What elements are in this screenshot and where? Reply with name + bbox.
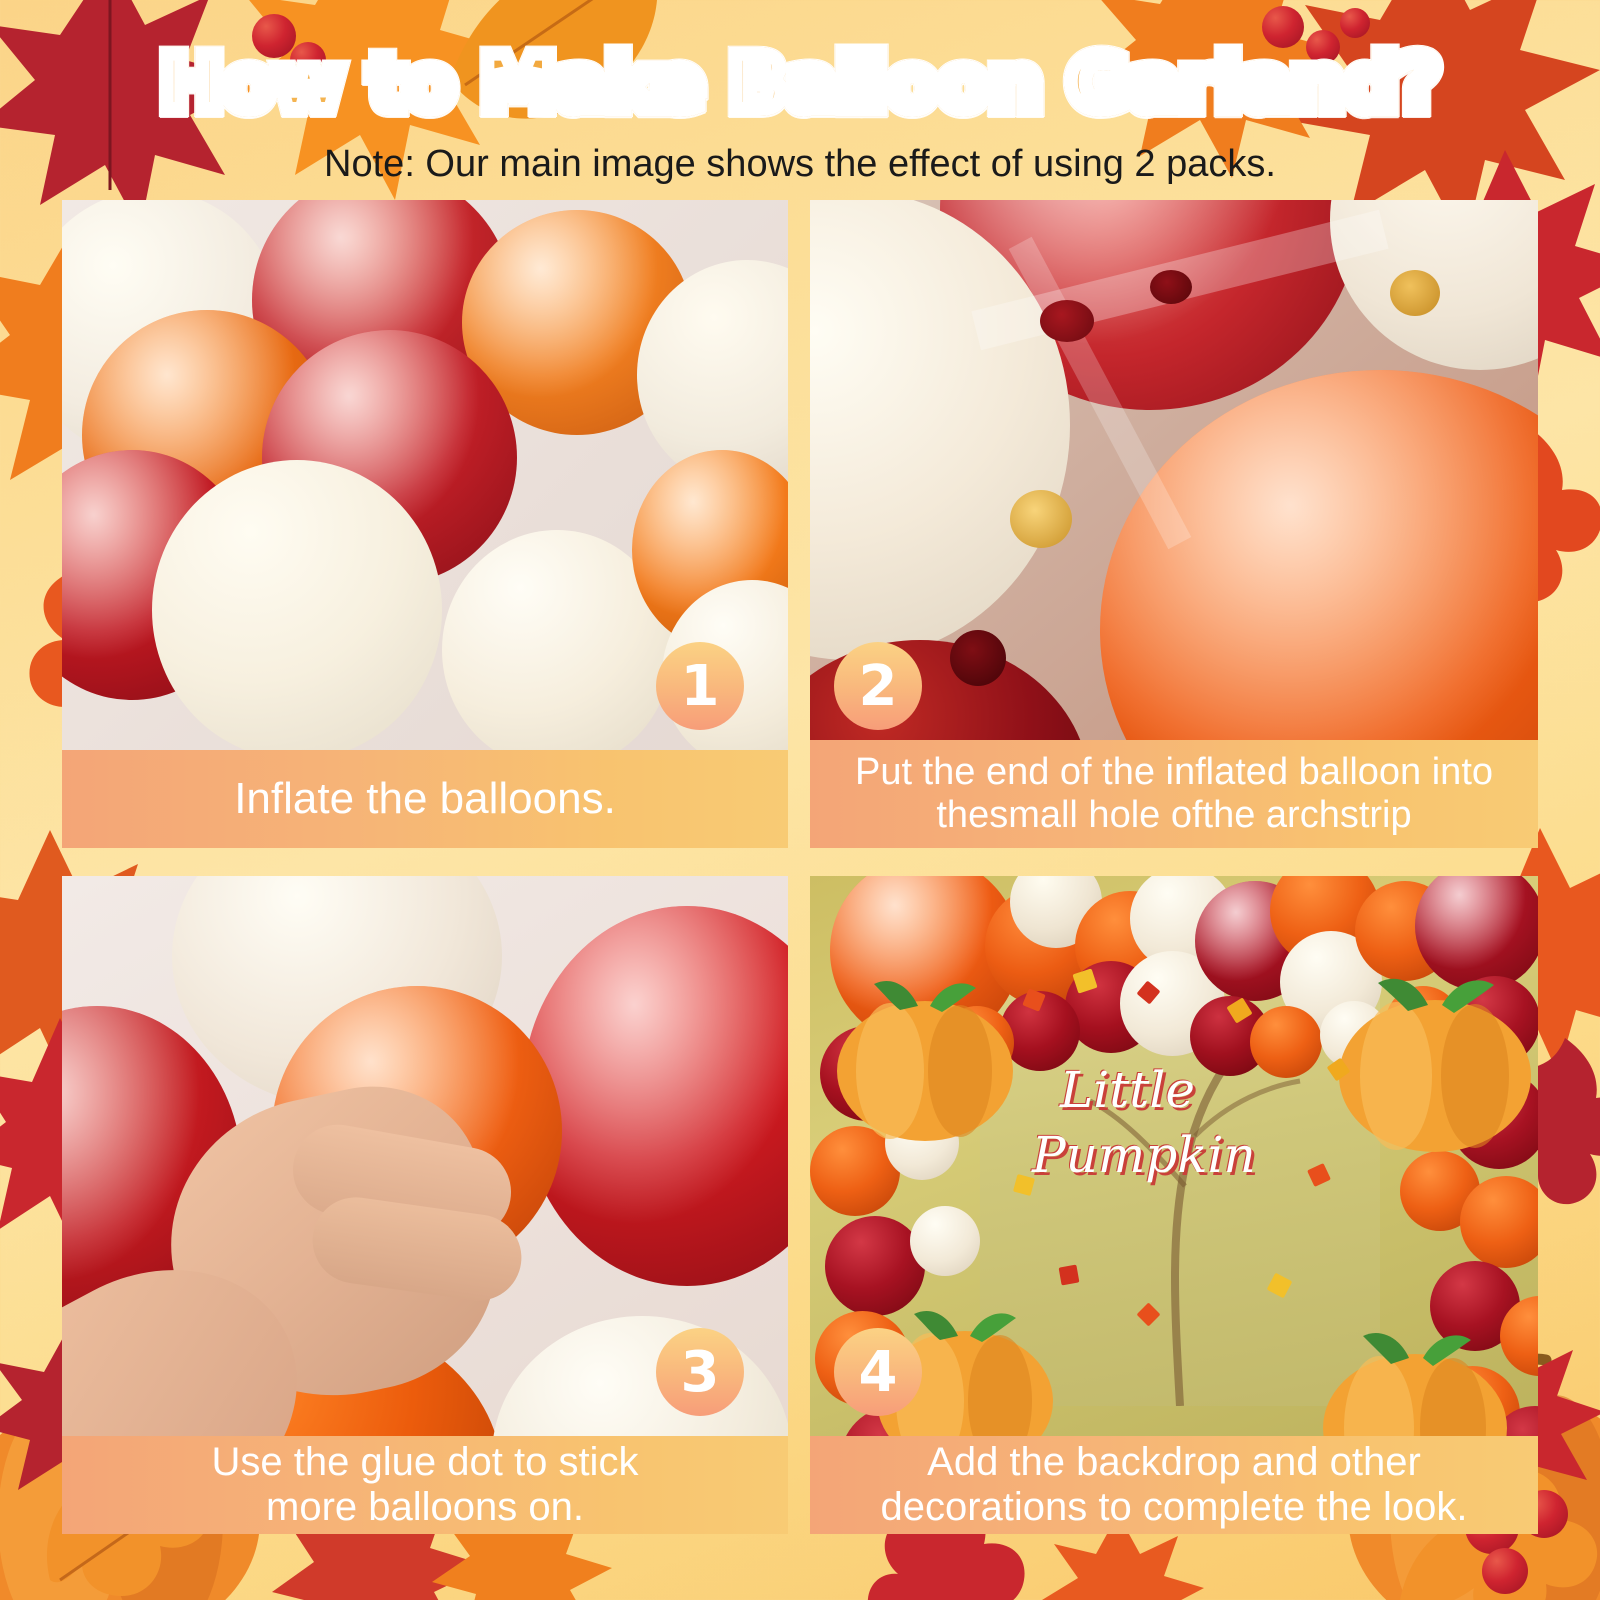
step-panel-1[interactable]: 1 Inflate the balloons. bbox=[62, 200, 788, 848]
backdrop-line-1: Little bbox=[1060, 1061, 1195, 1119]
balloon-knot bbox=[1010, 490, 1072, 548]
page-header: How to Make Balloon Garland? How to Make… bbox=[0, 0, 1600, 186]
pumpkin-foil-balloon bbox=[830, 966, 1020, 1146]
step-badge-1: 1 bbox=[656, 642, 744, 730]
balloon bbox=[1460, 1176, 1538, 1268]
step-badge-4: 4 bbox=[834, 1328, 922, 1416]
balloon-knot bbox=[1150, 270, 1192, 304]
step-caption-4: Add the backdrop and other decorations t… bbox=[810, 1436, 1538, 1534]
step-caption-3-line2: more balloons on. bbox=[266, 1485, 584, 1529]
backdrop-line-2: Pumpkin bbox=[1032, 1126, 1256, 1184]
pumpkin-foil-balloon bbox=[1330, 961, 1538, 1156]
step-panel-3[interactable]: 3 Use the glue dot to stick more balloon… bbox=[62, 876, 788, 1534]
balloon-knot bbox=[1040, 300, 1094, 342]
page-title: How to Make Balloon Garland? bbox=[160, 0, 1440, 127]
step-badge-3: 3 bbox=[656, 1328, 744, 1416]
step-badge-2: 2 bbox=[834, 642, 922, 730]
balloon-knot bbox=[950, 630, 1006, 686]
maple-leaf-icon bbox=[1059, 1265, 1080, 1286]
balloon bbox=[522, 906, 788, 1286]
page-note: Note: Our main image shows the effect of… bbox=[0, 143, 1600, 186]
step-caption-2: Put the end of the inflated balloon into… bbox=[810, 740, 1538, 848]
step-panel-2[interactable]: 2 Put the end of the inflated balloon in… bbox=[810, 200, 1538, 848]
step-panel-4[interactable]: Little Pumpkin bbox=[810, 876, 1538, 1534]
balloon bbox=[152, 460, 442, 760]
balloon bbox=[910, 1206, 980, 1276]
step-caption-1: Inflate the balloons. bbox=[62, 750, 788, 848]
step-caption-3: Use the glue dot to stick more balloons … bbox=[62, 1436, 788, 1534]
step-caption-4-line1: Add the backdrop and other bbox=[927, 1440, 1421, 1484]
step-caption-4-line2: decorations to complete the look. bbox=[880, 1485, 1467, 1529]
step-caption-1-text: Inflate the balloons. bbox=[234, 774, 616, 823]
balloon-knot bbox=[1390, 270, 1440, 316]
balloon bbox=[1250, 1006, 1322, 1078]
step-caption-3-line1: Use the glue dot to stick bbox=[212, 1440, 639, 1484]
step-caption-2-text: Put the end of the inflated balloon into… bbox=[820, 751, 1528, 836]
steps-grid: 1 Inflate the balloons. 2 Put the end of… bbox=[62, 200, 1538, 1534]
